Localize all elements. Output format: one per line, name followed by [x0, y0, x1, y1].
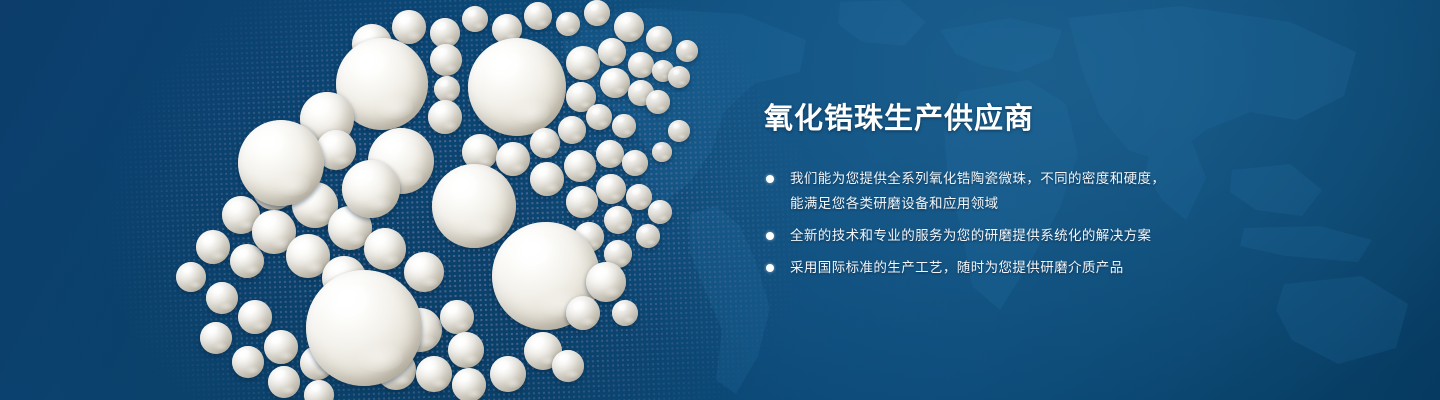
list-item-line-1: 我们能为您提供全系列氧化锆陶瓷微珠，不同的密度和硬度， [790, 171, 1165, 186]
bullet-dot-icon [766, 232, 774, 240]
promotional-banner: 氧化锆珠生产供应商 我们能为您提供全系列氧化锆陶瓷微珠，不同的密度和硬度， 能满… [0, 0, 1440, 400]
bullet-dot-icon [766, 175, 774, 183]
list-item-line-1: 采用国际标准的生产工艺，随时为您提供研磨介质产品 [790, 260, 1124, 275]
list-item-line-1: 全新的技术和专业的服务为您的研磨提供系统化的解决方案 [790, 228, 1151, 243]
zirconia-beads-image [0, 0, 760, 400]
list-item: 我们能为您提供全系列氧化锆陶瓷微珠，不同的密度和硬度， 能满足您各类研磨设备和应… [764, 166, 1234, 216]
list-item: 全新的技术和专业的服务为您的研磨提供系统化的解决方案 [764, 223, 1234, 248]
feature-list: 我们能为您提供全系列氧化锆陶瓷微珠，不同的密度和硬度， 能满足您各类研磨设备和应… [764, 166, 1234, 280]
list-item: 采用国际标准的生产工艺，随时为您提供研磨介质产品 [764, 255, 1234, 280]
halftone-dot-pattern [0, 0, 828, 400]
list-item-line-2: 能满足您各类研磨设备和应用领域 [790, 191, 1234, 216]
bullet-dot-icon [766, 264, 774, 272]
page-title: 氧化锆珠生产供应商 [764, 104, 1234, 136]
banner-content: 氧化锆珠生产供应商 我们能为您提供全系列氧化锆陶瓷微珠，不同的密度和硬度， 能满… [764, 104, 1234, 287]
